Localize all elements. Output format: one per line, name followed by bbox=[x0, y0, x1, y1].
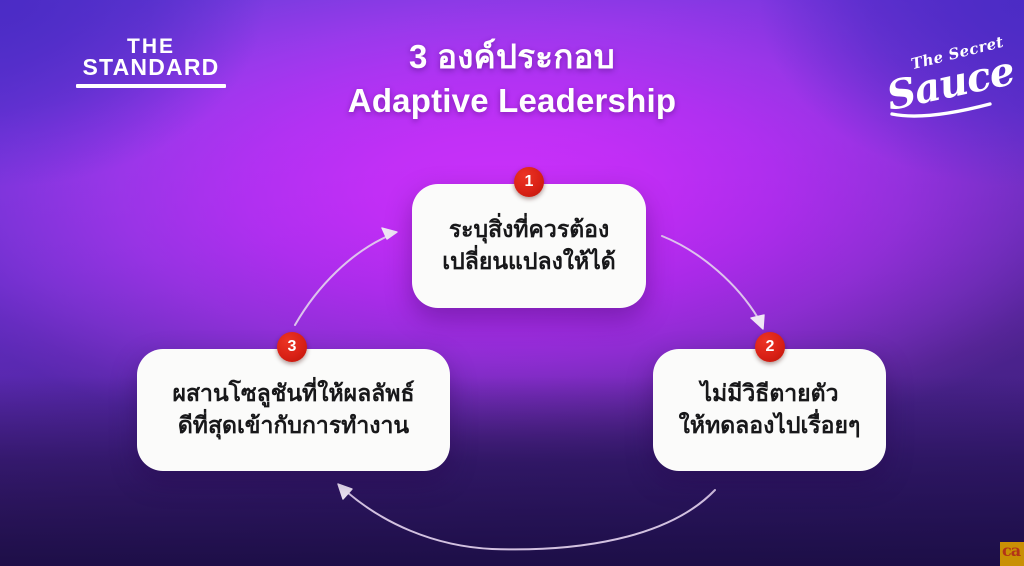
step-card-3-line-2: ดีที่สุดเข้ากับการทำงาน bbox=[173, 410, 415, 442]
corner-watermark-chip: ca bbox=[1000, 542, 1024, 566]
step-card-1-text: ระบุสิ่งที่ควรต้อง เปลี่ยนแปลงให้ได้ bbox=[428, 214, 629, 277]
step-card-3[interactable]: ผสานโซลูชันที่ให้ผลลัพธ์ ดีที่สุดเข้ากับ… bbox=[137, 349, 450, 471]
step-card-1[interactable]: ระบุสิ่งที่ควรต้อง เปลี่ยนแปลงให้ได้ bbox=[412, 184, 646, 308]
step-card-1-line-1: ระบุสิ่งที่ควรต้อง bbox=[442, 214, 615, 246]
step-card-2[interactable]: ไม่มีวิธีตายตัว ให้ทดลองไปเรื่อยๆ bbox=[653, 349, 886, 471]
arrow-step2-to-step3 bbox=[338, 484, 715, 549]
step-card-3-text: ผสานโซลูชันที่ให้ผลลัพธ์ ดีที่สุดเข้ากับ… bbox=[159, 378, 429, 441]
step-badge-3: 3 bbox=[277, 332, 307, 362]
slide-canvas: THE STANDARD The Secret Sauce 3 องค์ประก… bbox=[0, 0, 1024, 566]
page-title-line-1: 3 องค์ประกอบ bbox=[0, 36, 1024, 78]
step-card-3-line-1: ผสานโซลูชันที่ให้ผลลัพธ์ bbox=[173, 378, 415, 410]
corner-watermark-mark: ca bbox=[1002, 543, 1020, 559]
page-title-line-2: Adaptive Leadership bbox=[0, 80, 1024, 122]
arrow-step1-to-step2 bbox=[662, 236, 764, 329]
page-title: 3 องค์ประกอบ Adaptive Leadership bbox=[0, 36, 1024, 122]
step-card-2-line-1: ไม่มีวิธีตายตัว bbox=[679, 378, 861, 410]
arrow-step3-to-step1 bbox=[295, 228, 397, 325]
step-badge-2: 2 bbox=[755, 332, 785, 362]
step-card-2-text: ไม่มีวิธีตายตัว ให้ทดลองไปเรื่อยๆ bbox=[665, 378, 875, 441]
step-card-2-line-2: ให้ทดลองไปเรื่อยๆ bbox=[679, 410, 861, 442]
step-card-1-line-2: เปลี่ยนแปลงให้ได้ bbox=[442, 246, 615, 278]
step-badge-1: 1 bbox=[514, 167, 544, 197]
